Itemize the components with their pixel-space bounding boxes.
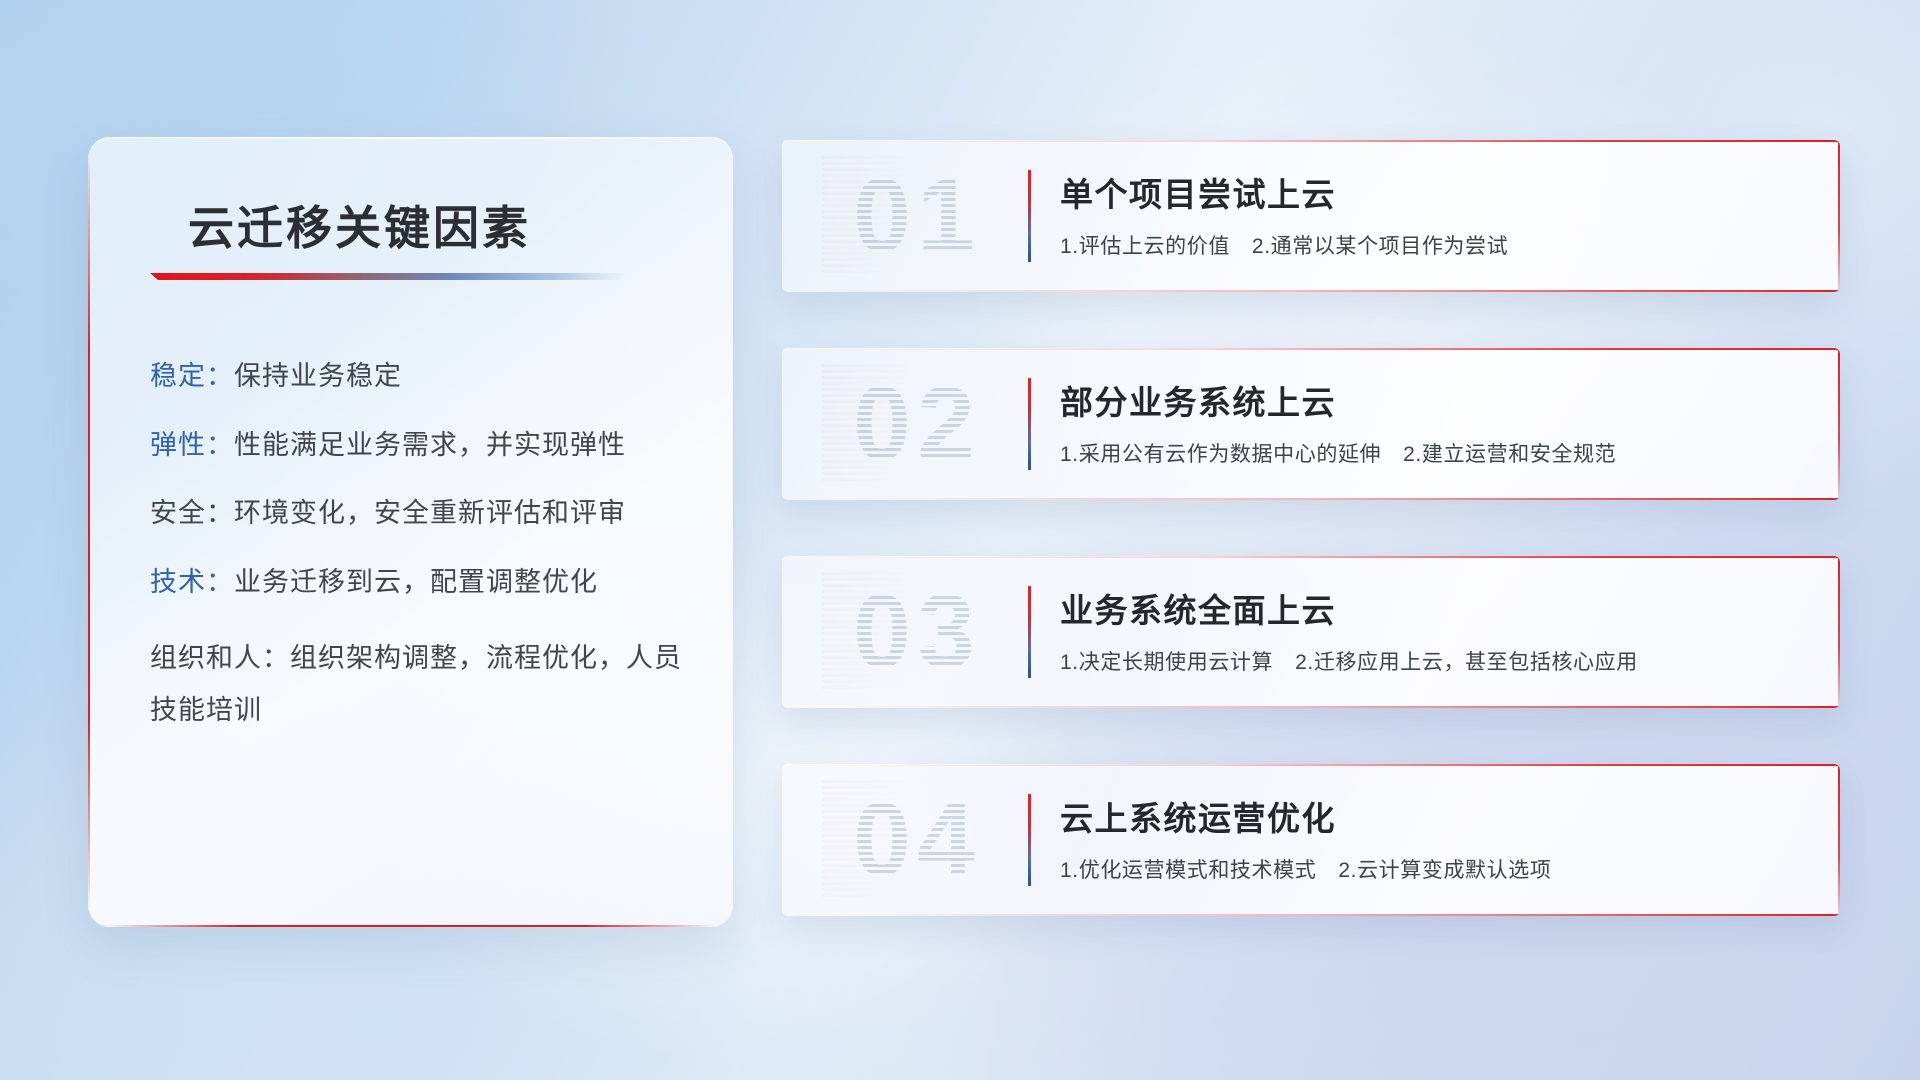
factor-item-security: 安全：环境变化，安全重新评估和评审 (150, 496, 693, 531)
step-point-1: 1.评估上云的价值 (1060, 235, 1230, 258)
factor-text: 环境变化，安全重新评估和评审 (234, 498, 626, 528)
step-divider (1028, 586, 1031, 678)
card-top-accent (782, 140, 1840, 142)
factor-list: 稳定：保持业务稳定 弹性：性能满足业务需求，并实现弹性 安全：环境变化，安全重新… (150, 359, 693, 771)
step-title-02: 部分业务系统上云 (1060, 376, 1336, 424)
factor-text: 性能满足业务需求，并实现弹性 (234, 430, 626, 460)
step-number-03: 03 (822, 572, 1012, 692)
card-bottom-accent (845, 498, 1840, 500)
step-point-1: 1.采用公有云作为数据中心的延伸 (1060, 443, 1381, 466)
panel-top-highlight (98, 137, 723, 139)
step-description-01: 1.评估上云的价值2.通常以某个项目作为尝试 (1060, 230, 1508, 260)
factor-item-organization-people: 组织和人：组织架构调整，流程优化，人员技能培训 (150, 633, 693, 737)
factor-text: 业务迁移到云，配置调整优化 (234, 567, 598, 597)
panel-bottom-accent-line (104, 925, 717, 927)
step-point-2: 2.迁移应用上云，甚至包括核心应用 (1295, 651, 1638, 674)
step-number-02: 02 (822, 364, 1012, 484)
factor-item-elasticity: 弹性：性能满足业务需求，并实现弹性 (150, 428, 693, 463)
step-card-03[interactable]: 03 业务系统全面上云 1.决定长期使用云计算2.迁移应用上云，甚至包括核心应用 (782, 556, 1840, 708)
factor-item-technology: 技术：业务迁移到云，配置调整优化 (150, 565, 693, 600)
step-number-04: 04 (822, 780, 1012, 900)
page-title: 云迁移关键因素 (188, 192, 531, 258)
step-divider (1028, 794, 1031, 886)
card-top-accent (782, 556, 1840, 558)
factor-text: 保持业务稳定 (234, 361, 402, 391)
step-point-1: 1.决定长期使用云计算 (1060, 651, 1273, 674)
step-divider (1028, 170, 1031, 262)
card-top-accent (782, 348, 1840, 350)
step-title-04: 云上系统运营优化 (1060, 792, 1336, 840)
factor-label: 技术： (150, 567, 234, 597)
step-card-01[interactable]: 01 单个项目尝试上云 1.评估上云的价值2.通常以某个项目作为尝试 (782, 140, 1840, 292)
factor-label: 组织和人： (150, 643, 290, 673)
card-right-accent (1838, 140, 1840, 292)
step-divider (1028, 378, 1031, 470)
card-bottom-accent (845, 914, 1840, 916)
step-title-01: 单个项目尝试上云 (1060, 168, 1336, 216)
step-description-04: 1.优化运营模式和技术模式2.云计算变成默认选项 (1060, 854, 1551, 884)
key-factors-panel: 云迁移关键因素 稳定：保持业务稳定 弹性：性能满足业务需求，并实现弹性 安全：环… (88, 137, 733, 927)
card-right-accent (1838, 556, 1840, 708)
step-point-2: 2.通常以某个项目作为尝试 (1252, 235, 1508, 258)
card-bottom-accent (845, 290, 1840, 292)
factor-item-stability: 稳定：保持业务稳定 (150, 359, 693, 394)
factor-label: 弹性： (150, 430, 234, 460)
step-description-02: 1.采用公有云作为数据中心的延伸2.建立运营和安全规范 (1060, 438, 1616, 468)
title-underline-gradient (150, 273, 626, 280)
step-description-03: 1.决定长期使用云计算2.迁移应用上云，甚至包括核心应用 (1060, 646, 1638, 676)
card-top-accent (782, 764, 1840, 766)
step-card-04[interactable]: 04 云上系统运营优化 1.优化运营模式和技术模式2.云计算变成默认选项 (782, 764, 1840, 916)
card-bottom-accent (845, 706, 1840, 708)
factor-label: 稳定： (150, 361, 234, 391)
card-right-accent (1838, 348, 1840, 500)
panel-left-accent-line (88, 151, 90, 913)
step-point-1: 1.优化运营模式和技术模式 (1060, 859, 1316, 882)
step-point-2: 2.建立运营和安全规范 (1403, 443, 1616, 466)
card-right-accent (1838, 764, 1840, 916)
step-title-03: 业务系统全面上云 (1060, 584, 1336, 632)
factor-label: 安全： (150, 498, 234, 528)
step-point-2: 2.云计算变成默认选项 (1338, 859, 1551, 882)
step-number-01: 01 (822, 156, 1012, 276)
step-card-02[interactable]: 02 部分业务系统上云 1.采用公有云作为数据中心的延伸2.建立运营和安全规范 (782, 348, 1840, 500)
